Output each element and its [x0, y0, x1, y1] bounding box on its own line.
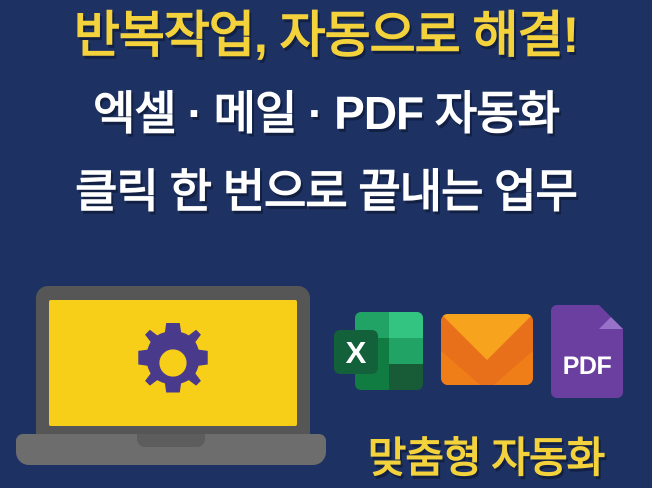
headline-block: 반복작업, 자동으로 해결! 엑셀 · 메일 · PDF 자동화 클릭 한 번으…: [0, 0, 652, 215]
laptop-trackpad-notch: [137, 434, 205, 447]
headline-line-1: 반복작업, 자동으로 해결!: [0, 10, 652, 61]
tagline-text: 맞춤형 자동화: [336, 424, 636, 485]
promo-banner: { "background_color": "#1d3263", "headli…: [0, 0, 652, 488]
excel-badge-label: X: [334, 330, 378, 374]
mail-icon: [441, 314, 533, 385]
excel-icon: X: [334, 300, 426, 395]
pdf-icon: PDF: [551, 305, 623, 398]
laptop-lid: [36, 286, 310, 438]
laptop-illustration: [16, 286, 326, 471]
pdf-corner-cut: [599, 305, 623, 329]
mail-flap: [441, 314, 533, 360]
app-icon-row: X PDF: [334, 300, 634, 400]
headline-line-3: 클릭 한 번으로 끝내는 업무: [0, 168, 652, 215]
headline-line-2: 엑셀 · 메일 · PDF 자동화: [0, 90, 652, 137]
excel-cell: [389, 338, 423, 364]
pdf-label: PDF: [551, 352, 623, 381]
excel-cell: [389, 364, 423, 390]
laptop-screen: [49, 300, 297, 426]
gear-icon: [133, 323, 213, 403]
excel-cell: [389, 312, 423, 338]
